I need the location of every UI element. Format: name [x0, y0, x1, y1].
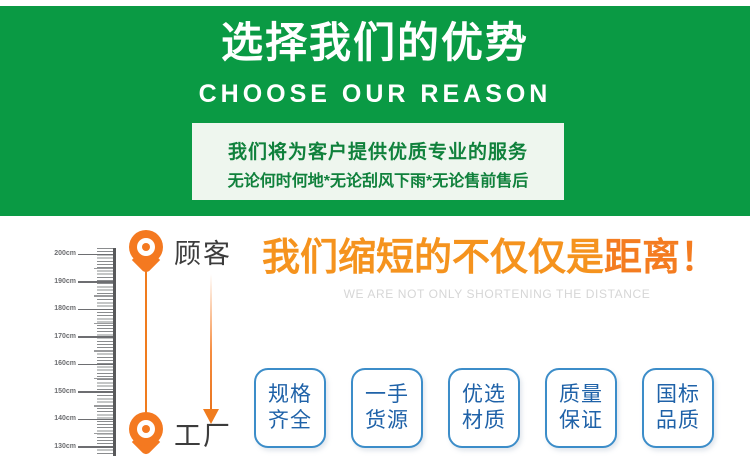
- ruler-row: 150cm: [36, 386, 116, 398]
- headline-exclaim: ！: [680, 237, 718, 279]
- ruler-minor-tick: [94, 323, 113, 325]
- ruler-major-tick: [78, 309, 113, 311]
- ruler-major-tick: [78, 419, 113, 421]
- feature-badge[interactable]: 规格 齐全: [254, 368, 326, 448]
- service-promise-line-1: 我们将为客户提供优质专业的服务: [192, 137, 564, 164]
- ruler-major-tick: [78, 254, 113, 256]
- service-promise-line-2: 无论何时何地*无论刮风下雨*无论售前售后: [192, 167, 564, 191]
- height-ruler-graphic: 200cm190cm180cm170cm160cm150cm140cm130cm: [36, 248, 116, 456]
- ruler-row: 140cm: [36, 413, 116, 425]
- feature-badge[interactable]: 质量 保证: [545, 368, 617, 448]
- ruler-row: 180cm: [36, 303, 116, 315]
- ruler-minor-tick: [94, 433, 113, 435]
- promo-banner-page: 选择我们的优势 CHOOSE OUR REASON 我们将为客户提供优质专业的服…: [0, 0, 750, 466]
- ruler-row: 170cm: [36, 331, 116, 343]
- headline-normal: 我们缩短的不仅仅是: [262, 237, 604, 279]
- feature-badge[interactable]: 优选 材质: [448, 368, 520, 448]
- ruler-major-tick: [78, 364, 113, 366]
- pin-connector-line: [145, 268, 147, 426]
- feature-badge-label: 一手 货源: [353, 382, 421, 434]
- service-promise-card: 我们将为客户提供优质专业的服务 无论何时何地*无论刮风下雨*无论售前售后: [192, 123, 564, 200]
- ruler-major-tick: [78, 336, 113, 338]
- headline: 我们缩短的不仅仅是距离！: [262, 234, 732, 282]
- ruler-minor-tick: [94, 295, 113, 297]
- ruler-major-tick: [78, 391, 113, 393]
- ruler-label: 140cm: [36, 413, 76, 425]
- ruler-minor-tick: [94, 405, 113, 407]
- feature-badge[interactable]: 一手 货源: [351, 368, 423, 448]
- ruler-minor-tick: [94, 350, 113, 352]
- ruler-major-tick: [78, 281, 113, 283]
- green-header-banner: 选择我们的优势 CHOOSE OUR REASON 我们将为客户提供优质专业的服…: [0, 6, 750, 216]
- map-pin-icon-factory: [129, 412, 163, 456]
- ruler-label: 200cm: [36, 248, 76, 260]
- pin-dot: [142, 425, 150, 433]
- headline-subtitle-english: WE ARE NOT ONLY SHORTENING THE DISTANCE: [262, 287, 732, 301]
- feature-badge-label: 质量 保证: [547, 382, 615, 434]
- headline-accent: 距离: [604, 237, 680, 279]
- ruler-row: 190cm: [36, 276, 116, 288]
- ruler-label: 160cm: [36, 358, 76, 370]
- ruler-major-tick: [78, 446, 113, 448]
- arrow-down-icon-head: [203, 409, 219, 424]
- arrow-down-icon-shaft: [210, 274, 212, 414]
- feature-badge-list: 规格 齐全一手 货源优选 材质质量 保证国标 品质: [254, 368, 724, 452]
- feature-badge[interactable]: 国标 品质: [642, 368, 714, 448]
- lower-content-area: 200cm190cm180cm170cm160cm150cm140cm130cm…: [0, 216, 750, 466]
- feature-badge-label: 国标 品质: [644, 382, 712, 434]
- map-pin-icon-customer: [129, 230, 163, 274]
- pin-dot: [142, 243, 150, 251]
- ruler-label: 170cm: [36, 331, 76, 343]
- page-subtitle-english: CHOOSE OUR REASON: [0, 78, 750, 110]
- page-title: 选择我们的优势: [0, 18, 750, 68]
- ruler-row: 200cm: [36, 248, 116, 260]
- ruler-row: 130cm: [36, 441, 116, 453]
- ruler-label: 190cm: [36, 276, 76, 288]
- ruler-minor-tick: [94, 268, 113, 270]
- ruler-label: 130cm: [36, 441, 76, 453]
- ruler-row: 160cm: [36, 358, 116, 370]
- feature-badge-label: 优选 材质: [450, 382, 518, 434]
- customer-label: 顾客: [174, 232, 232, 271]
- feature-badge-label: 规格 齐全: [256, 382, 324, 434]
- ruler-label: 180cm: [36, 303, 76, 315]
- ruler-minor-tick: [94, 378, 113, 380]
- ruler-label: 150cm: [36, 386, 76, 398]
